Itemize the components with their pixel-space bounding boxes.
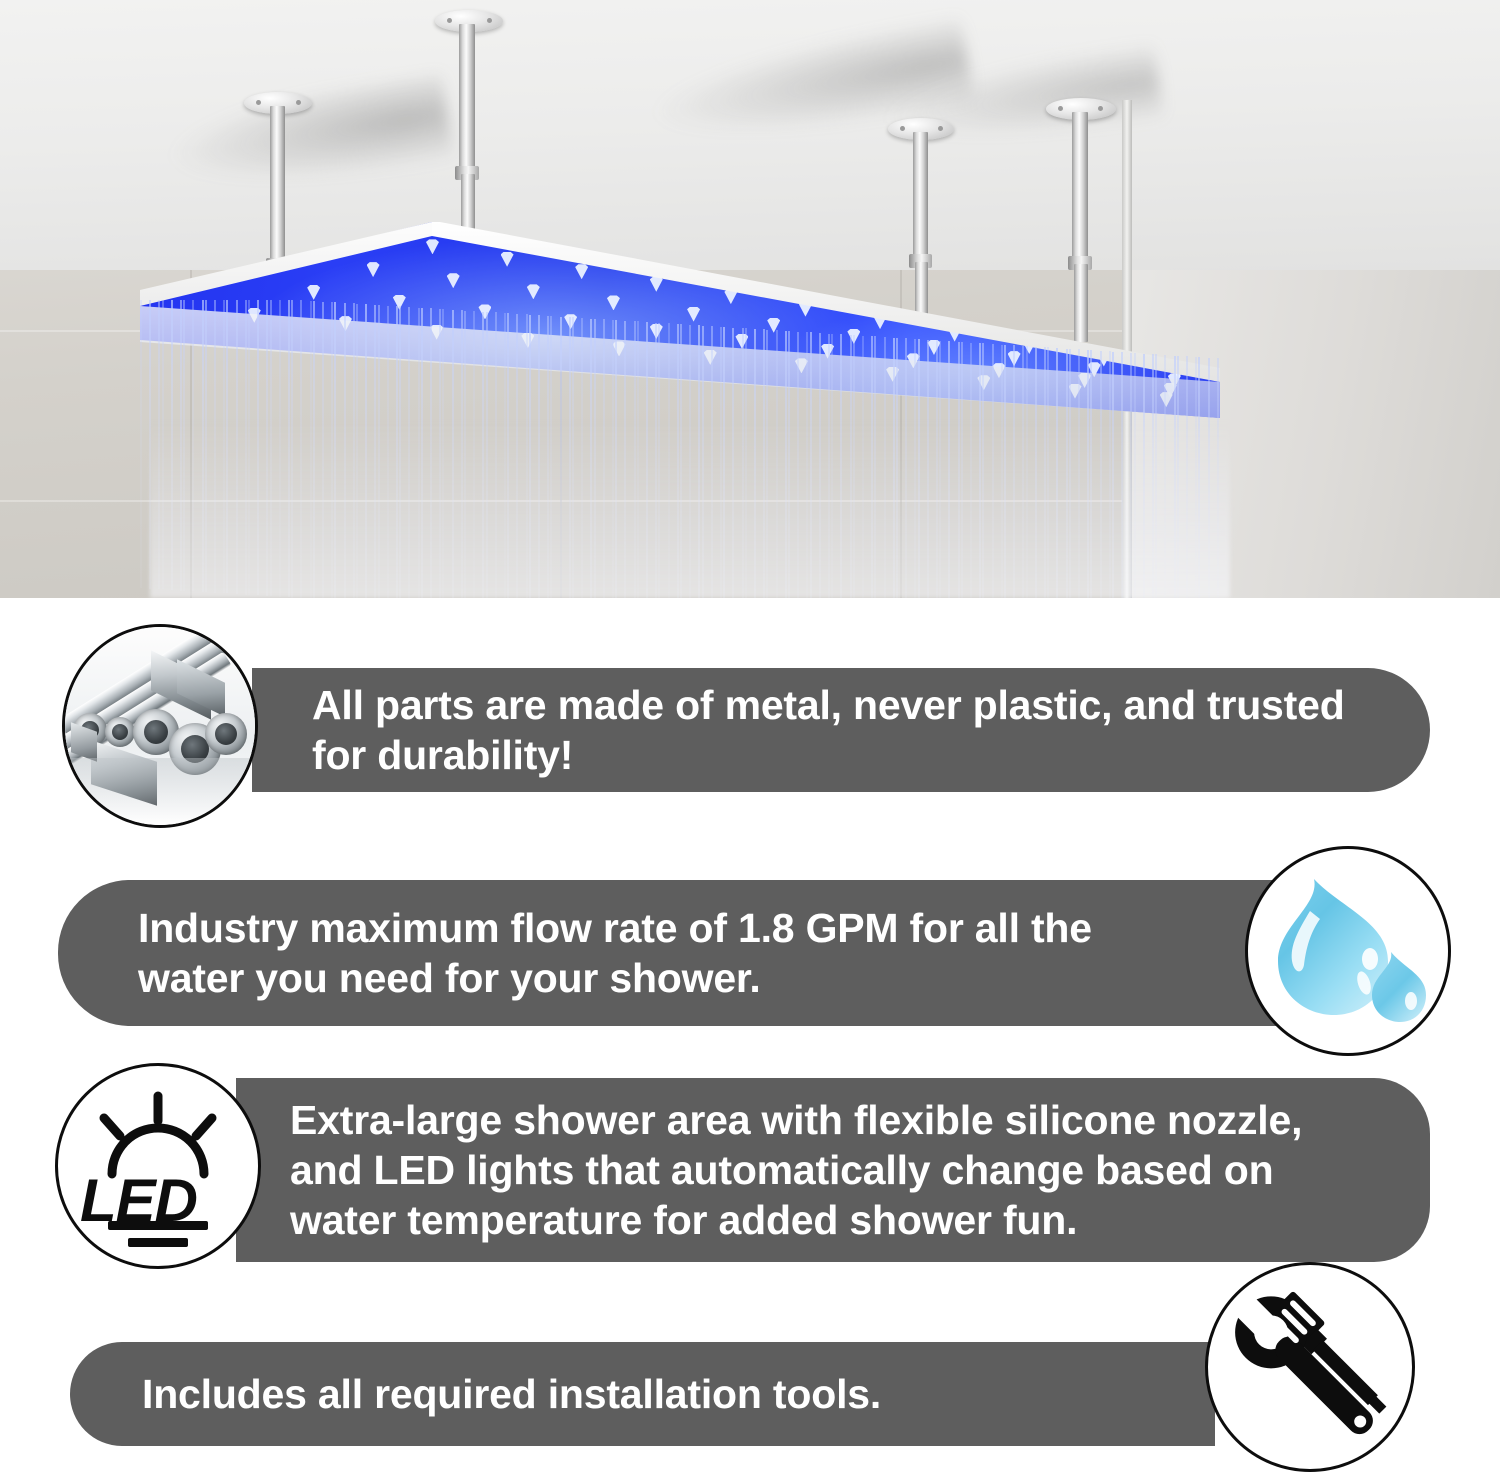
feature-banner-flow-rate: Industry maximum flow rate of 1.8 GPM fo… xyxy=(58,880,1316,1026)
led-icon: LED xyxy=(55,1063,261,1269)
tools-icon xyxy=(1205,1262,1415,1472)
water-mist xyxy=(150,420,1230,598)
led-icon-label: LED xyxy=(80,1166,197,1235)
flange-screw xyxy=(296,100,301,105)
product-hero-photo xyxy=(0,0,1500,598)
pipe-bore xyxy=(215,723,237,745)
flange-screw xyxy=(938,126,943,131)
feature-banner-durability: All parts are made of metal, never plast… xyxy=(252,668,1430,792)
flange-screw xyxy=(487,18,492,23)
metal-pipes-icon xyxy=(62,624,258,828)
tools-glyph xyxy=(1208,1265,1412,1469)
floor-reflection xyxy=(65,758,255,825)
feature-banner-text: Includes all required installation tools… xyxy=(142,1369,881,1419)
feature-banner-led: Extra-large shower area with flexible si… xyxy=(236,1078,1430,1262)
feature-banner-tools: Includes all required installation tools… xyxy=(70,1342,1215,1446)
flange-screw xyxy=(256,100,261,105)
pipe-bore xyxy=(144,720,168,744)
flange-screw xyxy=(447,18,452,23)
mount-rod xyxy=(459,24,475,174)
feature-banner-text: Industry maximum flow rate of 1.8 GPM fo… xyxy=(138,903,1092,1003)
flange-screw xyxy=(1058,106,1063,111)
pipe-bore xyxy=(112,724,128,740)
feature-banner-text: Extra-large shower area with flexible si… xyxy=(290,1095,1302,1245)
flange-screw xyxy=(1098,106,1103,111)
water-drop-glyph xyxy=(1248,849,1448,1053)
feature-banner-text: All parts are made of metal, never plast… xyxy=(312,680,1345,780)
flange-screw xyxy=(900,126,905,131)
product-feature-page: All parts are made of metal, never plast… xyxy=(0,0,1500,1473)
water-drop-icon xyxy=(1245,846,1451,1056)
